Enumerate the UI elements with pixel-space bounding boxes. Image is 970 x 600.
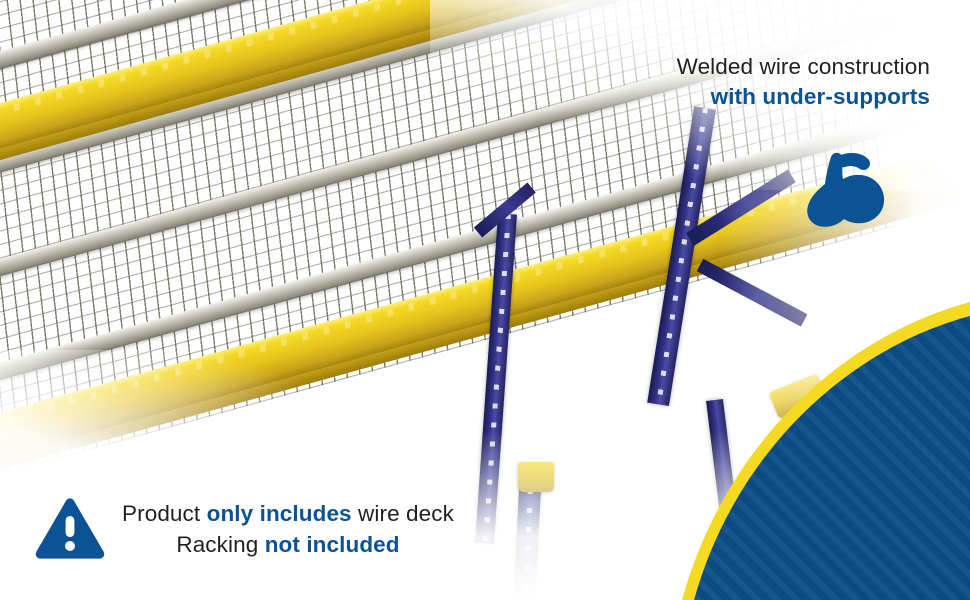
top-callout: Welded wire construction with under-supp…: [677, 52, 930, 112]
photo-fade-bottom-left: [0, 350, 470, 600]
warning-line-2: Racking not included: [122, 529, 454, 560]
warning-line-1-post: wire deck: [352, 501, 454, 526]
warning-line-1-bold: only includes: [207, 501, 352, 526]
warning-line-1-pre: Product: [122, 501, 207, 526]
exclamation-dot: [65, 541, 75, 551]
flexed-bicep-icon: [800, 150, 892, 228]
product-infographic-banner: Welded wire construction with under-supp…: [0, 0, 970, 600]
warning-triangle-exclamation-icon: [34, 496, 106, 562]
swoosh-blue-body: [640, 300, 970, 600]
top-callout-line-2: with under-supports: [677, 82, 930, 112]
corner-swoosh-decoration: [640, 300, 970, 600]
warning-line-1: Product only includes wire deck: [122, 498, 454, 529]
top-callout-line-1: Welded wire construction: [677, 52, 930, 82]
warning-callout: Product only includes wire deck Racking …: [34, 496, 454, 562]
warning-line-2-bold: not included: [265, 532, 400, 557]
warning-line-2-pre: Racking: [176, 532, 264, 557]
exclamation-bar: [66, 516, 75, 537]
warning-callout-text: Product only includes wire deck Racking …: [122, 498, 454, 560]
